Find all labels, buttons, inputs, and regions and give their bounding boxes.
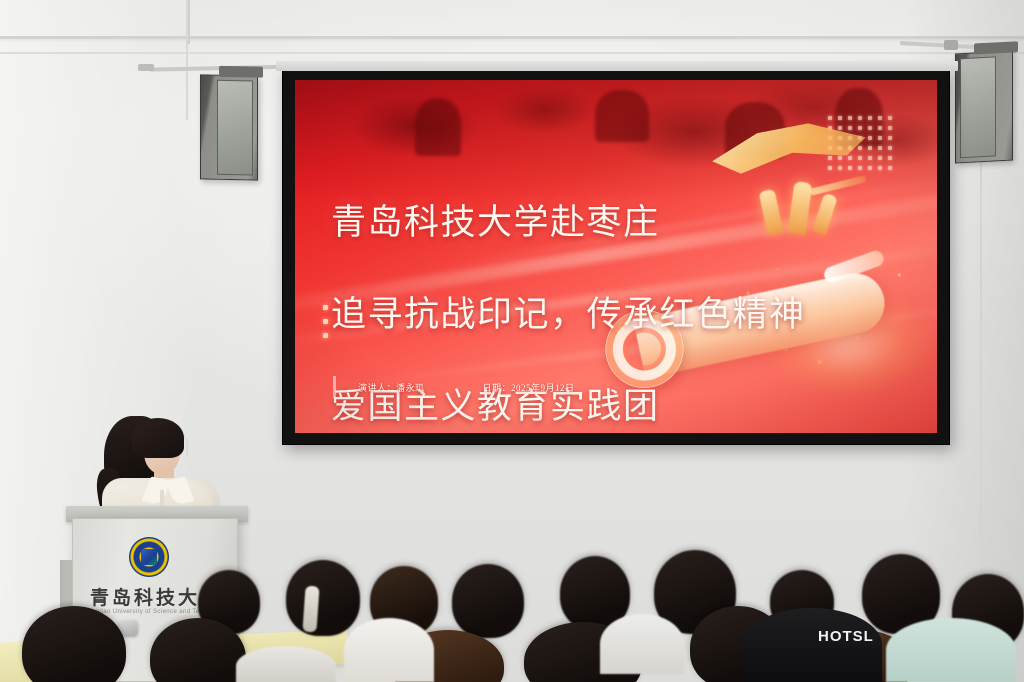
audience-head	[286, 560, 360, 636]
presentation-slide: 青岛科技大学赴枣庄 追寻抗战印记，传承红色精神 爱国主义教育实践团 演讲人：潘永…	[295, 80, 937, 433]
slide-footer: 演讲人：潘永玑 日期：2025年9月12日	[333, 376, 575, 398]
wall-speaker-left	[200, 74, 258, 180]
audience-shoulder	[344, 618, 434, 682]
wall-molding-lower	[0, 52, 1024, 54]
ceiling-fixture-right	[944, 40, 958, 50]
speaker-bracket-left	[219, 66, 263, 78]
slide-title-line-2: 追寻抗战印记，传承红色精神	[331, 292, 871, 338]
wall-speaker-right	[955, 50, 1013, 163]
shirt-text: HOTSL	[818, 628, 896, 645]
footer-accent-bar	[333, 376, 336, 398]
ceiling-fixture-left	[138, 64, 154, 71]
audience-shoulder	[600, 614, 684, 674]
slide-silhouette-figure	[415, 98, 461, 156]
speaker-label: 演讲人：潘永玑	[358, 381, 425, 394]
wall-seam-left-upper	[188, 0, 190, 44]
audience-head	[452, 564, 524, 638]
speaker-grille-left	[217, 80, 253, 176]
speaker-bracket-right	[974, 41, 1018, 54]
audience-shoulder	[236, 646, 336, 682]
led-screen-frame: 青岛科技大学赴枣庄 追寻抗战印记，传承红色精神 爱国主义教育实践团 演讲人：潘永…	[282, 68, 950, 445]
speaker-grille-right	[960, 56, 996, 158]
audience-front-rows: HOTSL	[0, 534, 1024, 682]
slide-title-line-1: 青岛科技大学赴枣庄	[331, 200, 871, 246]
audience-head-front	[22, 606, 126, 682]
side-dot-marker	[323, 305, 328, 347]
lecture-hall-scene: 青岛科技大学赴枣庄 追寻抗战印记，传承红色精神 爱国主义教育实践团 演讲人：潘永…	[0, 0, 1024, 682]
date-label: 日期：2025年9月12日	[483, 381, 575, 394]
presenter-hair-front	[132, 418, 184, 458]
audience-shoulder	[886, 618, 1016, 682]
audience-shoulder-black-shirt	[742, 608, 882, 682]
wall-molding-upper	[0, 36, 1024, 39]
